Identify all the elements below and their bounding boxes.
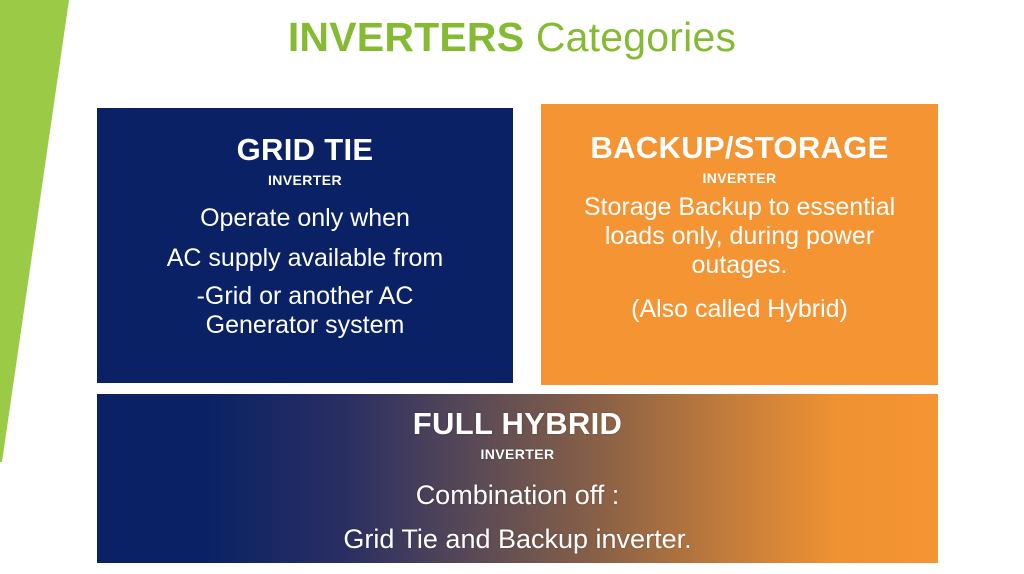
card-full-hybrid[interactable]: FULL HYBRID INVERTER Combination off : G… (97, 394, 938, 563)
page-title-light: Categories (524, 14, 736, 60)
card-grid-tie-subtitle: INVERTER (268, 169, 342, 191)
page-title-strong: INVERTERS (288, 14, 524, 60)
page-title: INVERTERS Categories (0, 14, 1024, 61)
card-backup-storage-note: (Also called Hybrid) (631, 293, 848, 326)
card-backup-storage-line-2: loads only, during power (595, 222, 884, 251)
green-diagonal-wedge-icon (0, 0, 90, 574)
card-full-hybrid-title: FULL HYBRID (413, 408, 622, 441)
card-grid-tie-line-4: Generator system (196, 311, 415, 340)
card-grid-tie-line-1: Operate only when (190, 202, 420, 235)
slide-canvas: INVERTERS Categories GRID TIE INVERTER O… (0, 0, 1024, 574)
card-backup-storage[interactable]: BACKUP/STORAGE INVERTER Storage Backup t… (541, 104, 938, 385)
card-grid-tie-title: GRID TIE (237, 134, 374, 167)
card-grid-tie[interactable]: GRID TIE INVERTER Operate only when AC s… (97, 108, 513, 383)
card-backup-storage-line-1: Storage Backup to essential (574, 193, 905, 222)
card-backup-storage-subtitle: INVERTER (703, 167, 777, 189)
card-backup-storage-line-3: outages. (682, 251, 798, 280)
card-full-hybrid-line-1: Combination off : (416, 478, 620, 513)
card-grid-tie-line-2: AC supply available from (157, 242, 454, 275)
card-full-hybrid-line-2: Grid Tie and Backup inverter. (343, 522, 691, 557)
card-backup-storage-title: BACKUP/STORAGE (590, 132, 888, 165)
card-full-hybrid-subtitle: INVERTER (481, 443, 555, 465)
card-grid-tie-line-3: -Grid or another AC (187, 282, 424, 311)
